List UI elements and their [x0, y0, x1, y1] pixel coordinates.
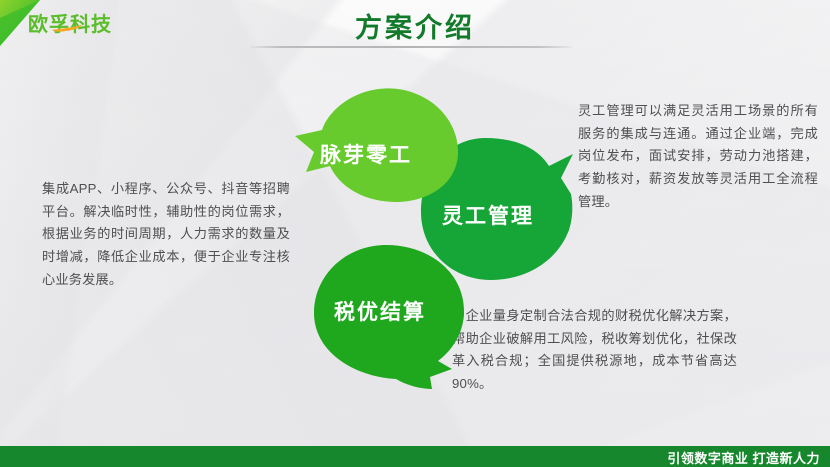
bubble-shuiyou-label: 税优结算: [334, 296, 426, 326]
bubble-shuiyou[interactable]: 税优结算: [300, 243, 480, 391]
footer-slogan: 引领数字商业 打造新人力: [667, 448, 820, 467]
bubble-linggong-label: 灵工管理: [442, 200, 534, 230]
slide-canvas: 欧孚科技 方案介绍 脉芽零工 灵工管理 税优结算 集成APP、小程序、公众号、抖…: [0, 0, 830, 467]
bubble-maiya[interactable]: 脉芽零工: [292, 86, 462, 204]
title-divider: [250, 46, 572, 48]
footer-bar: 引领数字商业 打造新人力: [0, 446, 830, 467]
description-linggong: 灵工管理可以满足灵活用工场景的所有服务的集成与连通。通过企业端，完成岗位发布，面…: [578, 100, 818, 214]
bubble-maiya-label: 脉芽零工: [320, 139, 412, 169]
description-maiya: 集成APP、小程序、公众号、抖音等招聘平台。解决临时性，辅助性的岗位需求，根据业…: [42, 178, 290, 292]
page-title: 方案介绍: [0, 6, 830, 45]
description-shuiyou: 为企业量身定制合法合规的财税优化解决方案，帮助企业破解用工风险，税收筹划优化，社…: [452, 305, 737, 396]
